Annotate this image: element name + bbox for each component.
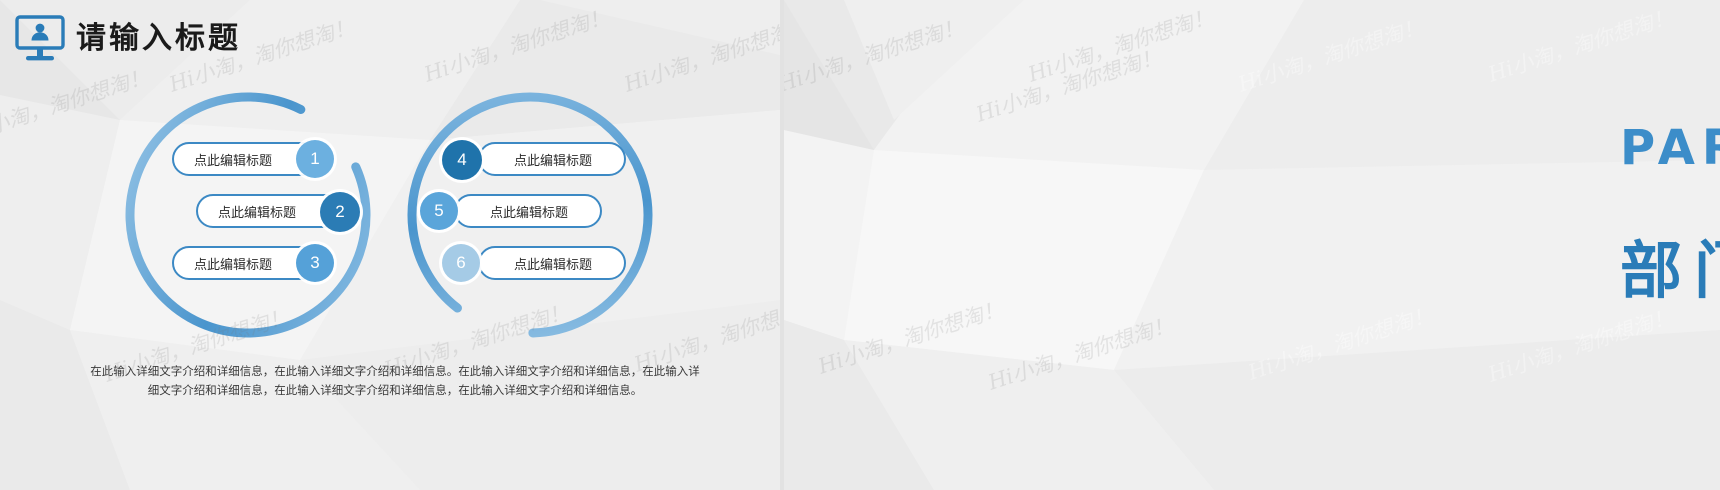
list-item-label: 点此编辑标题 xyxy=(218,202,296,221)
badge-number-5[interactable]: 5 xyxy=(420,192,458,230)
list-item[interactable]: 点此编辑标题 xyxy=(478,246,626,280)
presentation-canvas: 请输入标题 xyxy=(0,0,1720,490)
list-item-label: 点此编辑标题 xyxy=(490,202,568,221)
list-item[interactable]: 点此编辑标题 xyxy=(478,142,626,176)
slide-header: 请输入标题 xyxy=(0,0,780,78)
badge-number-4[interactable]: 4 xyxy=(442,140,482,180)
body-paragraph: 在此输入详细文字介绍和详细信息，在此输入详细文字介绍和详细信息。在此输入详细文字… xyxy=(90,362,700,400)
list-item[interactable]: 点此编辑标题 xyxy=(454,194,602,228)
list-item-label: 点此编辑标题 xyxy=(194,254,272,273)
badge-number-3[interactable]: 3 xyxy=(296,244,334,282)
diagram-arcs xyxy=(0,70,780,340)
list-item-label: 点此编辑标题 xyxy=(514,150,592,169)
page-title: 请输入标题 xyxy=(76,18,241,60)
monitor-person-icon xyxy=(14,14,66,64)
slide-right: PART 02 部门介绍 xyxy=(784,0,1720,490)
background-polygons xyxy=(784,0,1720,490)
part-block: PART 02 xyxy=(1620,110,1720,230)
slide-left: 请输入标题 xyxy=(0,0,780,490)
list-item-label: 点此编辑标题 xyxy=(194,150,272,169)
section-title: 部门介绍 xyxy=(1620,232,1720,310)
part-label: PART xyxy=(1620,120,1720,176)
list-item-label: 点此编辑标题 xyxy=(514,254,592,273)
badge-number-1[interactable]: 1 xyxy=(296,140,334,178)
circles-diagram: 点此编辑标题 1 点此编辑标题 2 点此编辑标题 3 点此编辑标题 4 点此编辑… xyxy=(0,70,780,340)
badge-number-6[interactable]: 6 xyxy=(442,244,480,282)
badge-number-2[interactable]: 2 xyxy=(320,192,360,232)
